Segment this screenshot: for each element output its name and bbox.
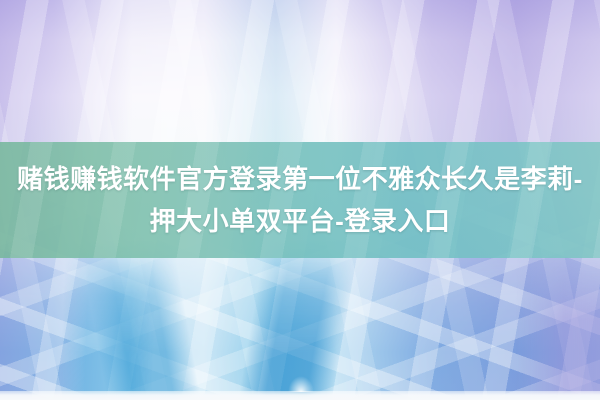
banner-caption: 赌钱赚钱软件官方登录第一位不雅众长久是李莉-押大小单双平台-登录入口	[0, 158, 600, 242]
promo-banner: 赌钱赚钱软件官方登录第一位不雅众长久是李莉-押大小单双平台-登录入口	[0, 0, 600, 400]
caption-band: 赌钱赚钱软件官方登录第一位不雅众长久是李莉-押大小单双平台-登录入口	[0, 142, 600, 258]
bottom-edge-strip	[0, 391, 600, 400]
caption-line-2: 押大小单双平台-登录入口	[150, 206, 451, 236]
caption-line-1: 赌钱赚钱软件官方登录第一位不雅众长久是李莉-	[17, 164, 583, 194]
